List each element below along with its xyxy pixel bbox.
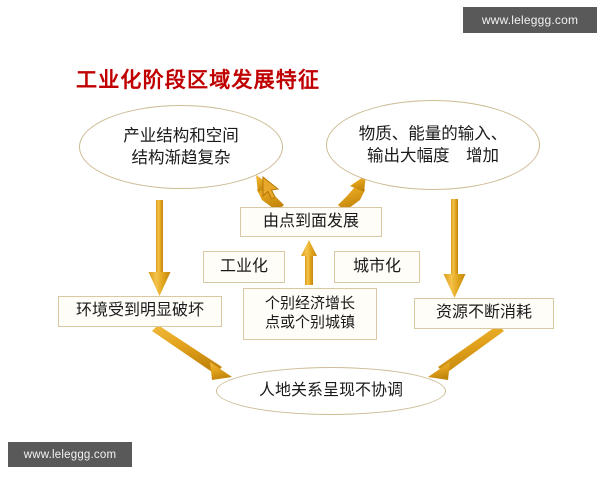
arrow-energy-to-resource [444, 199, 466, 298]
arrow-point-to-energy [338, 175, 366, 211]
node-industrialization-label: 工业化 [220, 257, 268, 277]
node-material-energy: 物质、能量的输入、 输出大幅度 增加 [326, 100, 540, 190]
node-growth-points: 个别经济增长 点或个别城镇 [243, 288, 377, 340]
watermark-top: www.leleggg.com [463, 7, 597, 33]
node-industrial-structure-line2: 结构渐趋复杂 [132, 147, 231, 169]
node-environment-damage: 环境受到明显破坏 [58, 296, 222, 327]
node-urbanization: 城市化 [334, 251, 420, 283]
node-point-to-area: 由点到面发展 [240, 207, 382, 237]
page-title: 工业化阶段区域发展特征 [76, 64, 320, 94]
node-material-energy-line1: 物质、能量的输入、 [359, 123, 508, 145]
node-resource-consumption-label: 资源不断消耗 [436, 303, 532, 323]
mouse-cursor [262, 176, 280, 202]
node-growth-points-line2: 点或个别城镇 [265, 314, 355, 333]
node-material-energy-line2: 输出大幅度 增加 [367, 145, 499, 167]
diagram-canvas: 工业化阶段区域发展特征 产业结构和空间 结构渐趋复杂 物质、能量的输入、 输出大… [0, 0, 600, 480]
arrow-resource-to-humanland [428, 325, 504, 380]
node-growth-points-line1: 个别经济增长 [265, 295, 355, 314]
node-resource-consumption: 资源不断消耗 [414, 298, 554, 329]
node-human-land-label: 人地关系呈现不协调 [259, 380, 403, 401]
arrow-growth-to-point [301, 240, 317, 285]
arrow-environment-to-humanland [152, 325, 232, 380]
node-urbanization-label: 城市化 [353, 257, 401, 277]
node-point-to-area-label: 由点到面发展 [263, 212, 359, 232]
node-industrial-structure-line1: 产业结构和空间 [123, 125, 239, 147]
node-industrialization: 工业化 [203, 251, 285, 283]
node-industrial-structure: 产业结构和空间 结构渐趋复杂 [79, 105, 283, 189]
node-human-land: 人地关系呈现不协调 [216, 367, 446, 415]
arrow-structure-to-environment [149, 200, 171, 296]
node-environment-damage-label: 环境受到明显破坏 [76, 301, 204, 321]
watermark-bottom: www.leleggg.com [8, 442, 132, 467]
